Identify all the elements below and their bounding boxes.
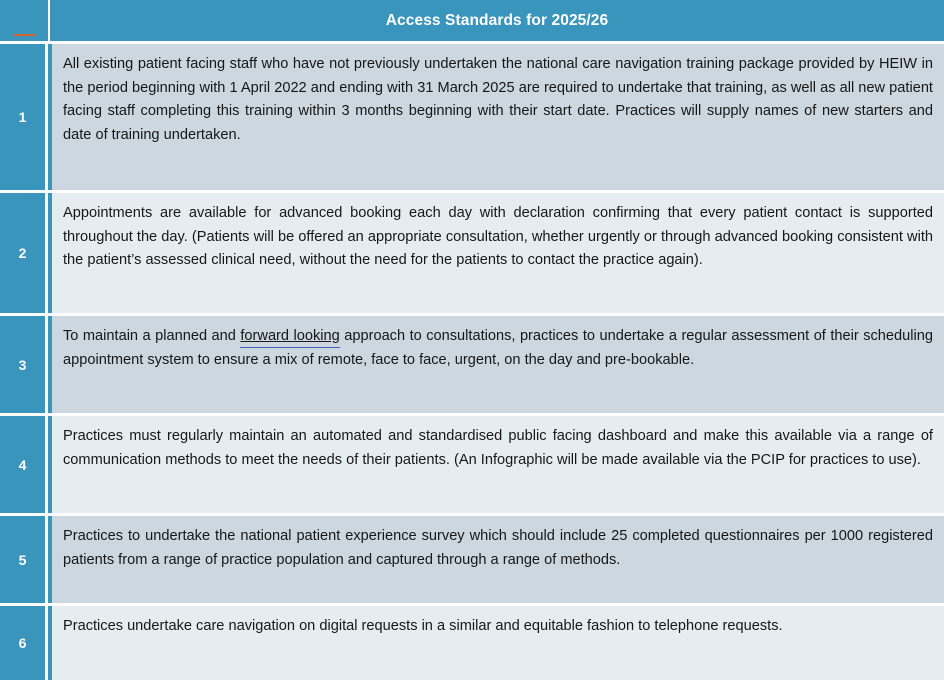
orange-mark-icon bbox=[13, 34, 36, 36]
table-row: 2 Appointments are available for advance… bbox=[0, 190, 944, 313]
table-row: 3 To maintain a planned and forward look… bbox=[0, 313, 944, 413]
table-body: 1 All existing patient facing staff who … bbox=[0, 41, 944, 680]
table-row: 6 Practices undertake care navigation on… bbox=[0, 603, 944, 680]
row-number-3: 3 bbox=[0, 316, 48, 413]
underlined-phrase: forward looking bbox=[240, 328, 339, 344]
access-standards-table: Access Standards for 2025/26 1 All exist… bbox=[0, 0, 944, 680]
row-text-4: Practices must regularly maintain an aut… bbox=[48, 416, 944, 513]
row-number-1: 1 bbox=[0, 44, 48, 190]
table-row: 4 Practices must regularly maintain an a… bbox=[0, 413, 944, 513]
row-text-3: To maintain a planned and forward lookin… bbox=[48, 316, 944, 413]
row-number-6: 6 bbox=[0, 606, 48, 680]
table-row: 1 All existing patient facing staff who … bbox=[0, 41, 944, 190]
row-text-6: Practices undertake care navigation on d… bbox=[48, 606, 944, 680]
table-row: 5 Practices to undertake the national pa… bbox=[0, 513, 944, 603]
table-title: Access Standards for 2025/26 bbox=[50, 0, 944, 41]
row-text-2: Appointments are available for advanced … bbox=[48, 193, 944, 313]
row-number-4: 4 bbox=[0, 416, 48, 513]
row-number-2: 2 bbox=[0, 193, 48, 313]
table-header-row: Access Standards for 2025/26 bbox=[0, 0, 944, 41]
header-index-cell bbox=[0, 0, 50, 41]
row-text-1: All existing patient facing staff who ha… bbox=[48, 44, 944, 190]
row-text-5: Practices to undertake the national pati… bbox=[48, 516, 944, 603]
row-text-3-before: To maintain a planned and bbox=[63, 328, 240, 344]
row-number-5: 5 bbox=[0, 516, 48, 603]
